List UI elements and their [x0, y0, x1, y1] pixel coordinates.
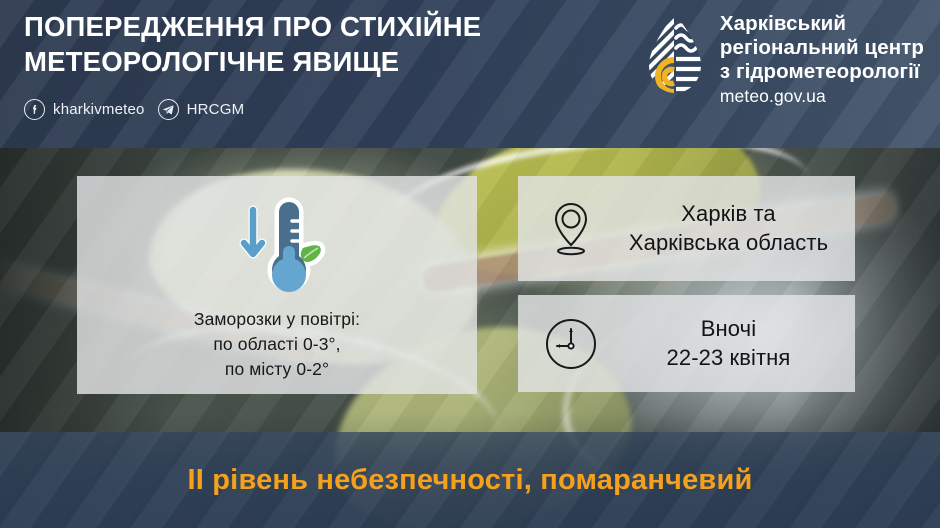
danger-level-text: II рівень небезпечності, помаранчевий — [188, 464, 753, 497]
facebook-icon — [24, 99, 45, 120]
map-pin-icon — [532, 198, 610, 260]
social-links: kharkivmeteo HRCGM — [24, 99, 244, 120]
water-droplet-logo-icon — [643, 11, 707, 99]
time-text-line-2: 22-23 квітня — [616, 344, 841, 373]
logo-text-line-3: з гідрометеорології — [720, 60, 924, 84]
danger-level-banner: II рівень небезпечності, помаранчевий — [0, 432, 940, 528]
logo-website-url: meteo.gov.ua — [720, 85, 924, 108]
telegram-icon — [158, 99, 179, 120]
social-link-telegram[interactable]: HRCGM — [158, 99, 245, 120]
hazard-text-line-2: по області 0-3°, — [194, 332, 360, 357]
thermometer-falling-icon — [223, 190, 331, 302]
page-title: ПОПЕРЕДЖЕННЯ ПРО СТИХІЙНЕ МЕТЕОРОЛОГІЧНЕ… — [24, 9, 584, 79]
clock-icon — [532, 316, 610, 372]
logo-text-line-2: регіональний центр — [720, 36, 924, 60]
location-text-line-2: Харківська область — [616, 229, 841, 258]
time-card-text: Вночі 22-23 квітня — [616, 315, 841, 372]
hazard-card-text: Заморозки у повітрі: по області 0-3°, по… — [194, 307, 360, 382]
time-card: Вночі 22-23 квітня — [518, 295, 855, 392]
social-link-facebook[interactable]: kharkivmeteo — [24, 99, 145, 120]
location-card-text: Харків та Харківська область — [616, 200, 841, 257]
hazard-text-line-1: Заморозки у повітрі: — [194, 307, 360, 332]
page-title-line-2: МЕТЕОРОЛОГІЧНЕ ЯВИЩЕ — [24, 44, 584, 79]
social-label-telegram: HRCGM — [187, 101, 245, 118]
location-text-line-1: Харків та — [616, 200, 841, 229]
organization-logo: Харківський регіональний центр з гідроме… — [643, 11, 924, 108]
location-card: Харків та Харківська область — [518, 176, 855, 281]
infographic-canvas: ПОПЕРЕДЖЕННЯ ПРО СТИХІЙНЕ МЕТЕОРОЛОГІЧНЕ… — [0, 0, 940, 528]
logo-text-line-1: Харківський — [720, 12, 924, 36]
page-title-line-1: ПОПЕРЕДЖЕННЯ ПРО СТИХІЙНЕ — [24, 11, 481, 42]
hazard-text-line-3: по місту 0-2° — [194, 357, 360, 382]
social-label-facebook: kharkivmeteo — [53, 101, 145, 118]
time-text-line-1: Вночі — [616, 315, 841, 344]
header-band: ПОПЕРЕДЖЕННЯ ПРО СТИХІЙНЕ МЕТЕОРОЛОГІЧНЕ… — [0, 0, 940, 148]
hazard-card: Заморозки у повітрі: по області 0-3°, по… — [77, 176, 477, 394]
